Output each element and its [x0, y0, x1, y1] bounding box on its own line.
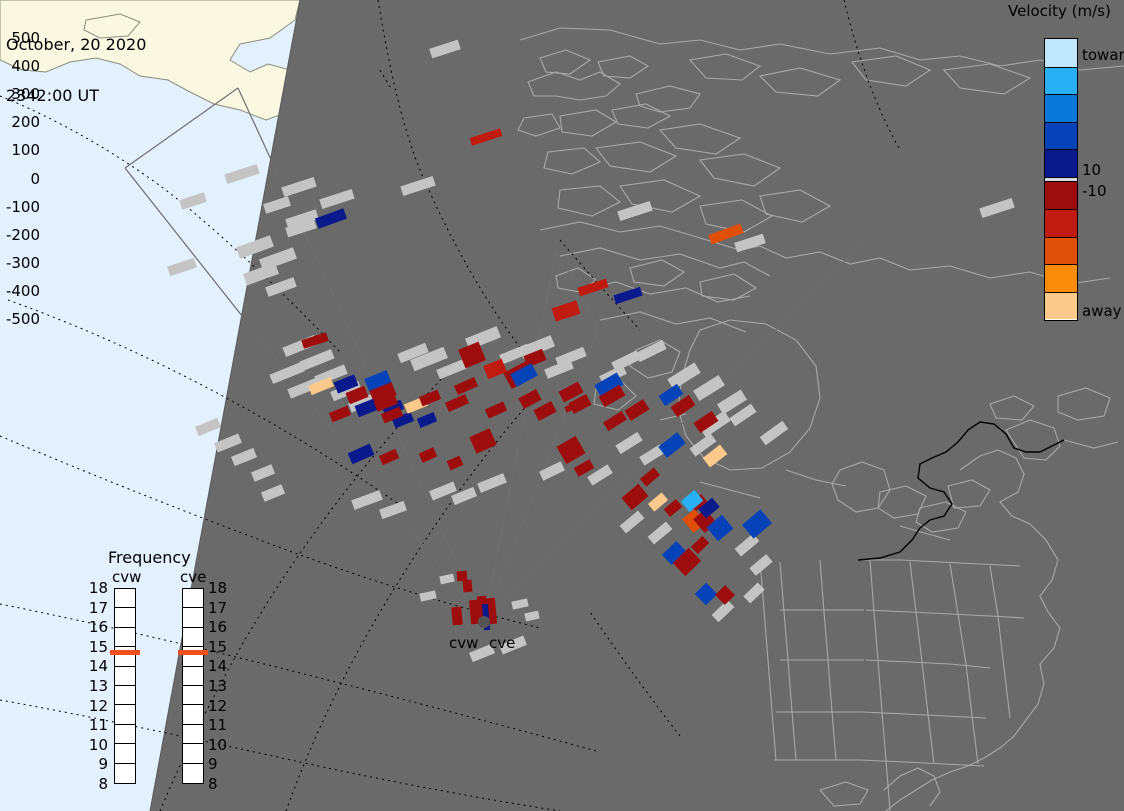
- frequency-tick-9: 9: [208, 755, 228, 773]
- colorbar-tick-100: 100: [11, 141, 40, 159]
- colorbar-tick-0: 0: [30, 170, 40, 188]
- frequency-tick-18: 18: [88, 579, 108, 597]
- colorbar-tick--300: -300: [6, 254, 40, 272]
- colorbar-tick--500: -500: [6, 310, 40, 328]
- frequency-column-cve: cve: [180, 568, 206, 586]
- map-canvas: [0, 0, 1124, 811]
- frequency-segment: [183, 725, 203, 744]
- timestamp-overlay: October, 20 2020 2342:00 UT: [6, 2, 146, 138]
- colorbar-tick--200: -200: [6, 226, 40, 244]
- colorbar-band-3: [1045, 122, 1077, 150]
- frequency-tick-14: 14: [208, 657, 228, 675]
- frequency-segment: [183, 667, 203, 686]
- colorbar-band-1: [1045, 67, 1077, 95]
- frequency-segment: [115, 589, 135, 608]
- colorbar-toward-label: toward: [1082, 46, 1124, 64]
- frequency-segment: [183, 764, 203, 783]
- frequency-segment: [183, 744, 203, 763]
- frequency-tick-17: 17: [88, 599, 108, 617]
- frequency-segment: [115, 628, 135, 647]
- frequency-segment: [115, 608, 135, 627]
- frequency-tick-16: 16: [88, 618, 108, 636]
- frequency-tick-13: 13: [88, 677, 108, 695]
- colorbar-band-2: [1045, 94, 1077, 122]
- frequency-scale-cvw[interactable]: [114, 588, 136, 784]
- colorbar-band-7: [1045, 237, 1077, 265]
- frequency-tick-15: 15: [208, 638, 228, 656]
- colorbar-band-0: [1045, 39, 1077, 67]
- velocity-colorbar[interactable]: [1044, 38, 1078, 321]
- colorbar-inner-lower-label: -10: [1082, 182, 1107, 200]
- frequency-segment: [115, 705, 135, 724]
- frequency-segment: [183, 686, 203, 705]
- frequency-scale-cve[interactable]: [182, 588, 204, 784]
- colorbar-tick--400: -400: [6, 282, 40, 300]
- colorbar-band-6: [1045, 209, 1077, 237]
- frequency-segment: [183, 628, 203, 647]
- frequency-tick-12: 12: [208, 697, 228, 715]
- frequency-segment: [115, 686, 135, 705]
- frequency-segment: [115, 725, 135, 744]
- colorbar-gradient: [1044, 38, 1078, 321]
- frequency-tick-12: 12: [88, 697, 108, 715]
- frequency-column-cvw: cvw: [112, 568, 141, 586]
- superdarn-velocity-map: October, 20 2020 2342:00 UT Velocity (m/…: [0, 0, 1124, 811]
- frequency-tick-18: 18: [208, 579, 228, 597]
- frequency-segment: [183, 608, 203, 627]
- colorbar-inner-upper-label: 10: [1082, 161, 1101, 179]
- colorbar-tick--100: -100: [6, 198, 40, 216]
- radar-label-cvw: cvw: [449, 634, 478, 652]
- frequency-tick-15: 15: [88, 638, 108, 656]
- frequency-title: Frequency: [108, 548, 191, 567]
- frequency-tick-11: 11: [88, 716, 108, 734]
- frequency-segment: [115, 667, 135, 686]
- frequency-tick-8: 8: [88, 775, 108, 793]
- colorbar-title: Velocity (m/s): [1008, 2, 1111, 20]
- frequency-tick-10: 10: [208, 736, 228, 754]
- velocity-cell: [451, 607, 463, 626]
- colorbar-band-8: [1045, 264, 1077, 292]
- colorbar-band-9: [1045, 292, 1077, 320]
- timestamp-date: October, 20 2020: [6, 36, 146, 53]
- frequency-segment: [183, 589, 203, 608]
- velocity-cell: [462, 580, 472, 593]
- frequency-marker-cvw: [110, 650, 140, 655]
- frequency-segment: [183, 705, 203, 724]
- colorbar-band-5: [1045, 182, 1077, 210]
- frequency-tick-10: 10: [88, 736, 108, 754]
- frequency-tick-13: 13: [208, 677, 228, 695]
- frequency-tick-17: 17: [208, 599, 228, 617]
- colorbar-away-label: away: [1082, 302, 1122, 320]
- frequency-tick-8: 8: [208, 775, 228, 793]
- frequency-tick-14: 14: [88, 657, 108, 675]
- frequency-tick-11: 11: [208, 716, 228, 734]
- timestamp-time: 2342:00 UT: [6, 87, 146, 104]
- radar-label-cve: cve: [489, 634, 515, 652]
- velocity-cell: [457, 571, 468, 582]
- frequency-segment: [115, 764, 135, 783]
- frequency-tick-16: 16: [208, 618, 228, 636]
- frequency-marker-cve: [178, 650, 208, 655]
- frequency-segment: [115, 744, 135, 763]
- colorbar-band-4: [1045, 149, 1077, 177]
- frequency-tick-9: 9: [88, 755, 108, 773]
- radar-site-marker[interactable]: [478, 616, 490, 628]
